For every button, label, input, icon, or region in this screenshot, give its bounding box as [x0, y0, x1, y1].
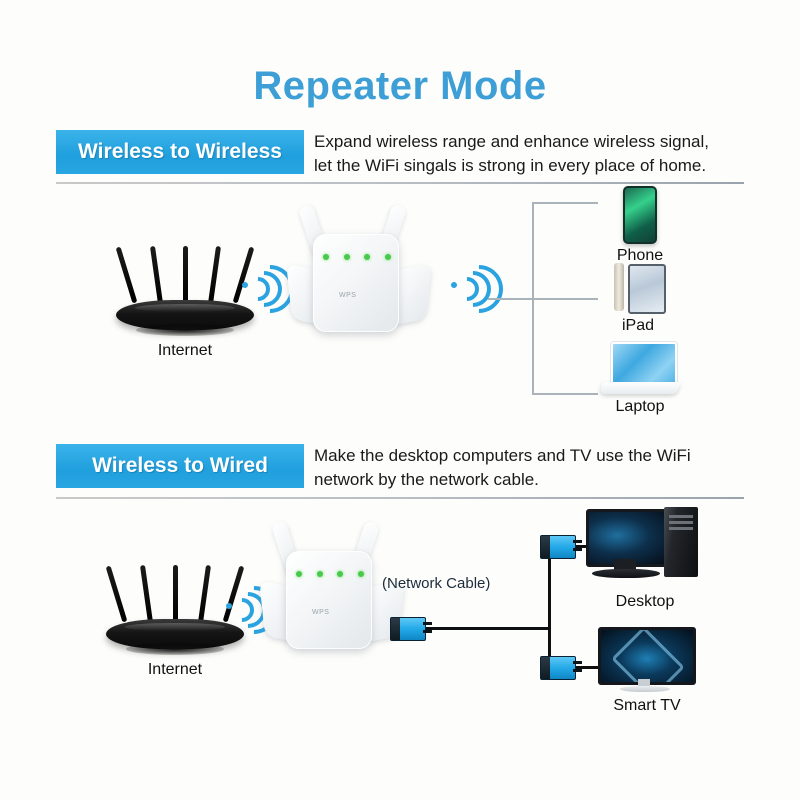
repeater-led-indicators	[323, 254, 391, 260]
cable-vertical-split	[548, 545, 551, 669]
laptop-icon	[601, 342, 679, 396]
led-indicator	[317, 571, 323, 577]
led-indicator	[296, 571, 302, 577]
led-indicator	[337, 571, 343, 577]
device-smart-tv: Smart TV	[592, 627, 702, 715]
diagram-wireless-to-wireless: Internet WPS	[0, 184, 800, 434]
wps-button-label[interactable]: WPS	[339, 292, 356, 299]
device-laptop: Laptop	[595, 342, 685, 416]
phone-icon	[623, 186, 657, 244]
repeater-device-bottom: WPS	[258, 521, 408, 671]
connection-tree-bracket	[498, 198, 598, 398]
section-header-wireless-to-wireless: Wireless to Wireless Expand wireless ran…	[56, 130, 744, 178]
led-indicator	[344, 254, 350, 260]
rj45-connector-desktop	[540, 535, 582, 557]
rj45-connector-repeater	[390, 617, 432, 639]
desktop-icon	[586, 507, 704, 589]
description-wireless-to-wired: Make the desktop computers and TV use th…	[304, 444, 744, 492]
description-line-1: Make the desktop computers and TV use th…	[314, 444, 744, 468]
rj45-connector-smarttv	[540, 656, 582, 678]
label-laptop: Laptop	[595, 398, 685, 416]
led-indicator	[323, 254, 329, 260]
description-line-2: network by the network cable.	[314, 468, 744, 492]
repeater-device-top: WPS	[285, 204, 435, 354]
wifi-signal-repeater-to-devices	[447, 262, 493, 308]
repeater-led-indicators	[296, 571, 364, 577]
description-line-1: Expand wireless range and enhance wirele…	[314, 130, 744, 154]
led-indicator	[364, 254, 370, 260]
device-phone: Phone	[600, 186, 680, 265]
led-indicator	[358, 571, 364, 577]
label-desktop: Desktop	[580, 593, 710, 611]
device-ipad: iPad	[598, 262, 678, 335]
page-title: Repeater Mode	[0, 0, 800, 106]
label-network-cable: (Network Cable)	[382, 575, 490, 592]
wps-button-label[interactable]: WPS	[312, 609, 329, 616]
led-indicator	[385, 254, 391, 260]
repeater-graphic: WPS	[258, 521, 408, 671]
wifi-signal-router-to-repeater	[238, 262, 284, 308]
label-internet-bottom: Internet	[100, 661, 250, 679]
label-ipad: iPad	[598, 317, 678, 335]
diagram-wireless-to-wired: Internet WPS (Network Cable)	[0, 499, 800, 759]
cable-horizontal-main	[420, 627, 550, 630]
badge-wireless-to-wired: Wireless to Wired	[56, 444, 304, 488]
label-smart-tv: Smart TV	[592, 697, 702, 715]
description-wireless-to-wireless: Expand wireless range and enhance wirele…	[304, 130, 744, 178]
label-internet-top: Internet	[110, 342, 260, 360]
smart-tv-icon	[598, 627, 696, 693]
device-desktop: Desktop	[580, 507, 710, 611]
badge-wireless-to-wireless: Wireless to Wireless	[56, 130, 304, 174]
description-line-2: let the WiFi singals is strong in every …	[314, 154, 744, 178]
repeater-graphic: WPS	[285, 204, 435, 354]
section-header-wireless-to-wired: Wireless to Wired Make the desktop compu…	[56, 444, 744, 492]
ipad-icon	[612, 262, 664, 314]
